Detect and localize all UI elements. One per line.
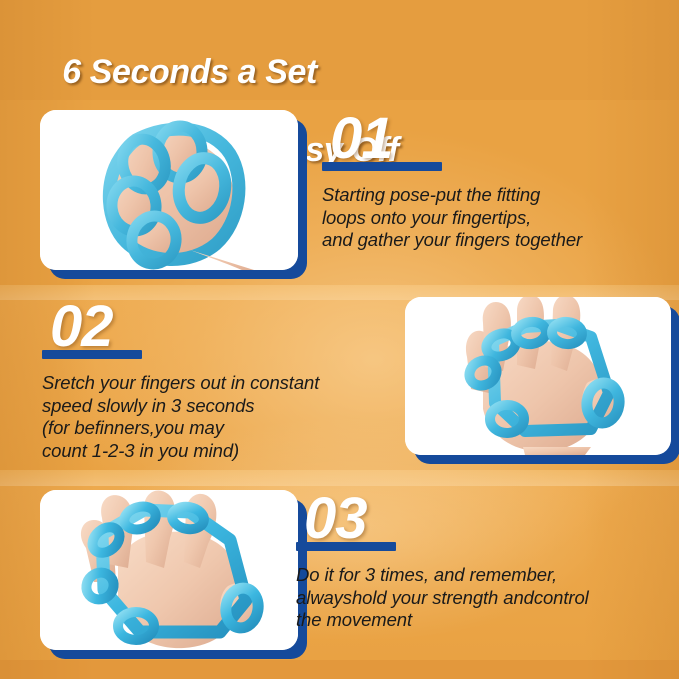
product-instruction-poster: 6 Seconds a Set Easy On and Easy Off	[0, 0, 679, 679]
step-block-2: 02 Sretch your fingers out in constant s…	[42, 300, 392, 462]
step-text-2: Sretch your fingers out in constant spee…	[42, 372, 392, 462]
step-number-2: 02	[50, 296, 113, 358]
step-text-3: Do it for 3 times, and remember, alwaysh…	[296, 564, 666, 632]
step-photo-card-2	[405, 297, 671, 455]
photo-hand-spread	[40, 490, 298, 650]
step-photo-card-1	[40, 110, 298, 270]
step-number-wrap-2: 02	[42, 300, 392, 372]
step-number-wrap-3: 03	[296, 492, 666, 564]
step-block-3: 03 Do it for 3 times, and remember, alwa…	[296, 492, 666, 632]
step-number-wrap-1: 01	[322, 112, 662, 184]
step-number-1: 01	[330, 108, 393, 170]
step-block-1: 01 Starting pose-put the fitting loops o…	[322, 112, 662, 252]
photo-hand-stretching	[405, 297, 671, 455]
photo-hand-relaxed	[40, 110, 298, 270]
headline-line-1: 6 Seconds a Set	[62, 53, 317, 91]
step-photo-card-3	[40, 490, 298, 650]
step-number-3: 03	[304, 488, 367, 550]
step-text-1: Starting pose-put the fitting loops onto…	[322, 184, 662, 252]
